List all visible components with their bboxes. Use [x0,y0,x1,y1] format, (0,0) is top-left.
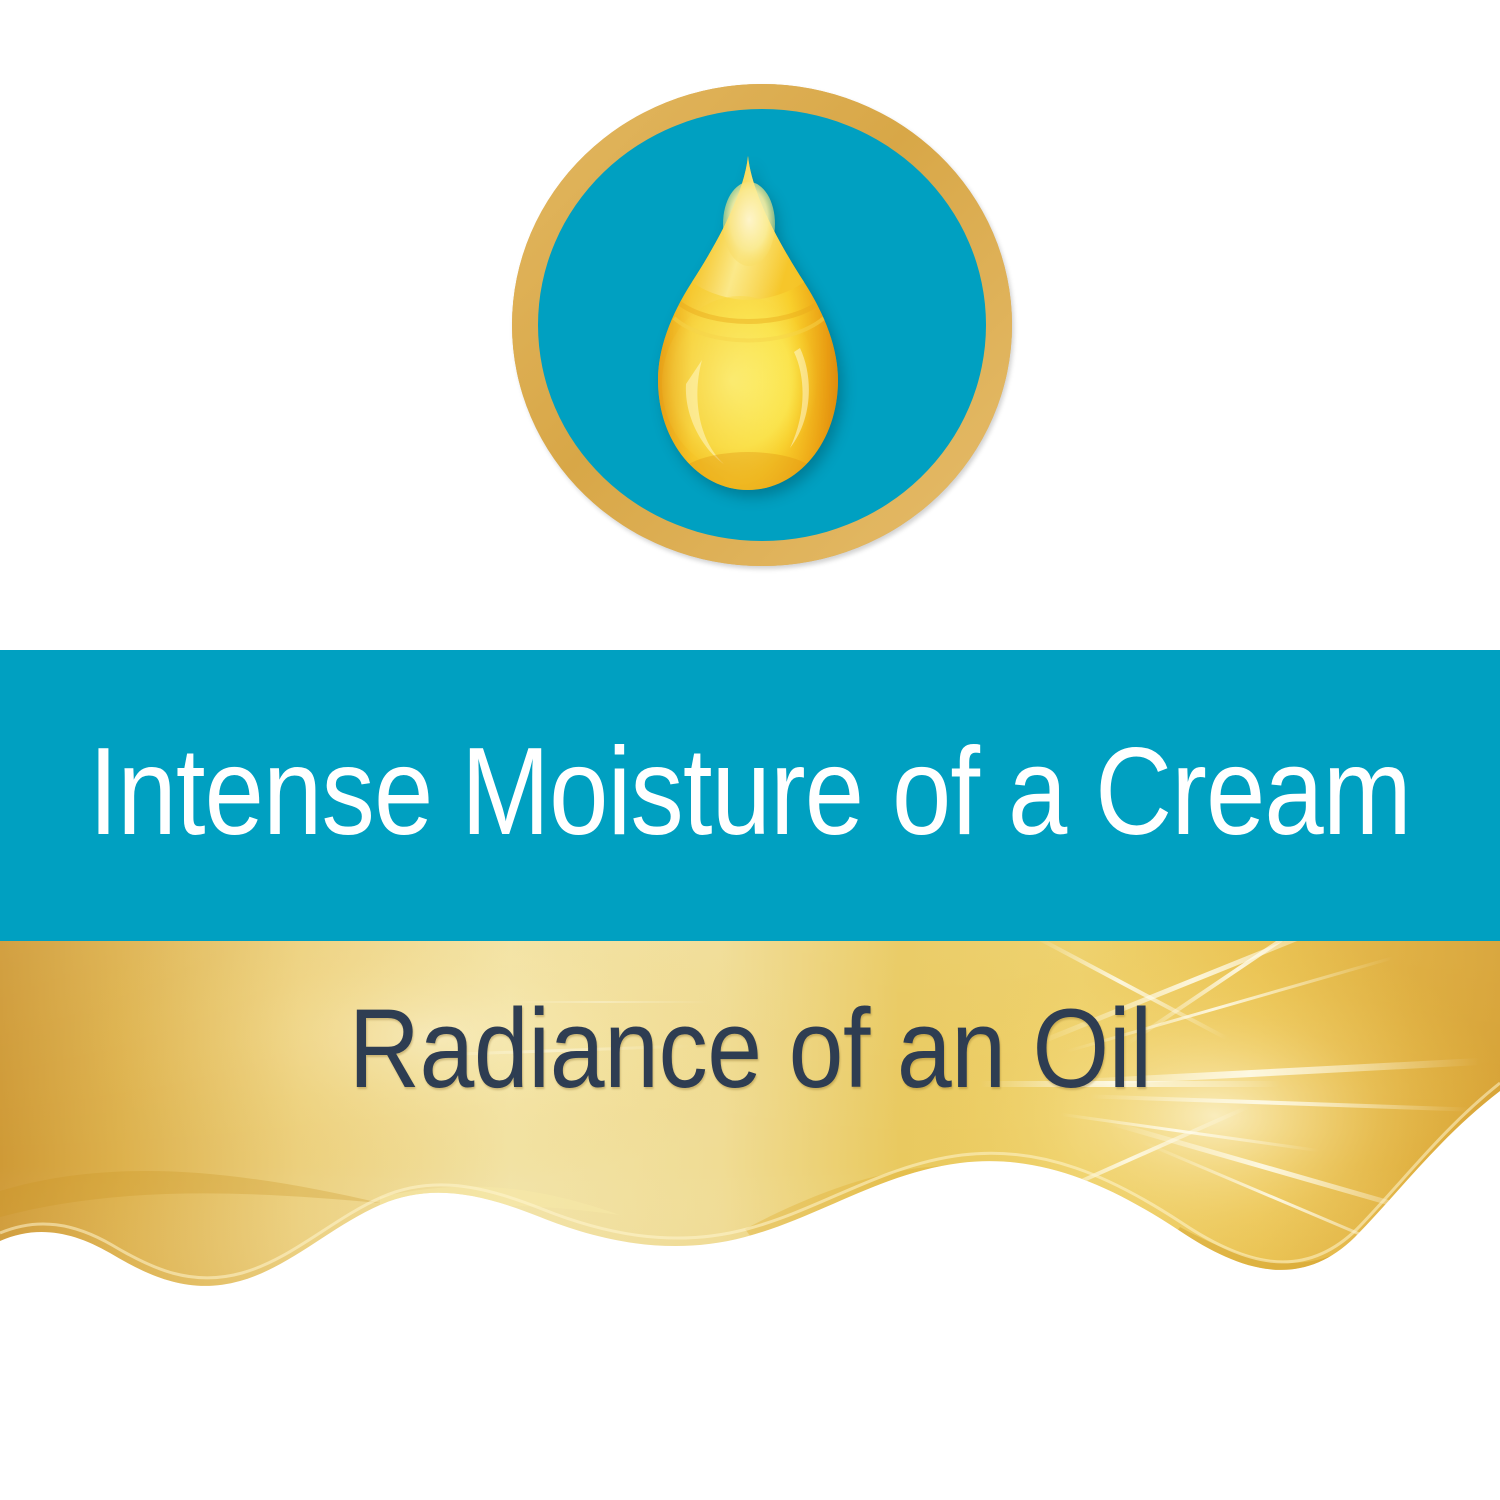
product-feature-poster: Intense Moisture of a Cream [0,0,1500,1500]
oil-band [0,941,1500,1500]
oil-droplet-icon [648,152,848,497]
headline-band: Intense Moisture of a Cream [0,650,1500,941]
headline-text: Intense Moisture of a Cream [89,730,1411,862]
oil-wave-graphic [0,941,1500,1500]
oil-drop-badge [512,84,1012,566]
